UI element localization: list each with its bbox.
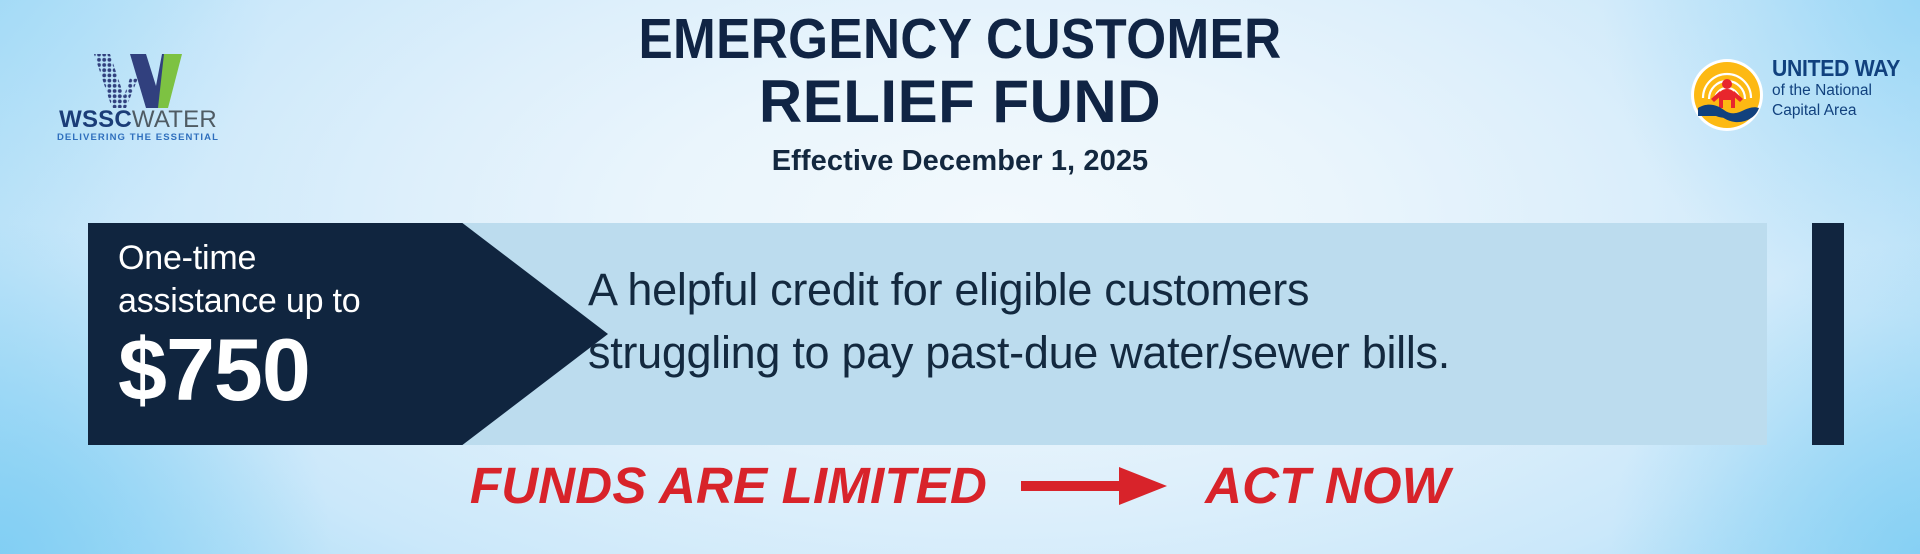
callout-line-2: assistance up to (118, 280, 458, 323)
headline-line-1: EMERGENCY CUSTOMER (96, 10, 1824, 68)
call-to-action-row: FUNDS ARE LIMITED ACT NOW (0, 459, 1920, 513)
callout-amount: $750 (118, 327, 458, 413)
description-line-2: struggling to pay past-due water/sewer b… (588, 322, 1718, 385)
right-arrow-icon (1021, 463, 1171, 509)
benefit-band: A helpful credit for eligible customers … (88, 223, 1844, 445)
headline-block: EMERGENCY CUSTOMER RELIEF FUND Effective… (0, 10, 1920, 178)
headline-line-2: RELIEF FUND (0, 70, 1920, 134)
benefit-description-text: A helpful credit for eligible customers … (588, 259, 1718, 384)
amount-callout-text: One-time assistance up to $750 (118, 237, 458, 414)
band-right-endcap (1812, 223, 1844, 445)
cta-act-now-text: ACT NOW (1205, 459, 1450, 513)
cta-funds-limited-text: FUNDS ARE LIMITED (470, 459, 987, 513)
effective-date-text: Effective December 1, 2025 (0, 146, 1920, 178)
relief-fund-banner: WSSCWATER DELIVERING THE ESSENTIAL UNITE… (0, 0, 1920, 554)
callout-line-1: One-time (118, 237, 458, 280)
description-line-1: A helpful credit for eligible customers (588, 259, 1718, 322)
